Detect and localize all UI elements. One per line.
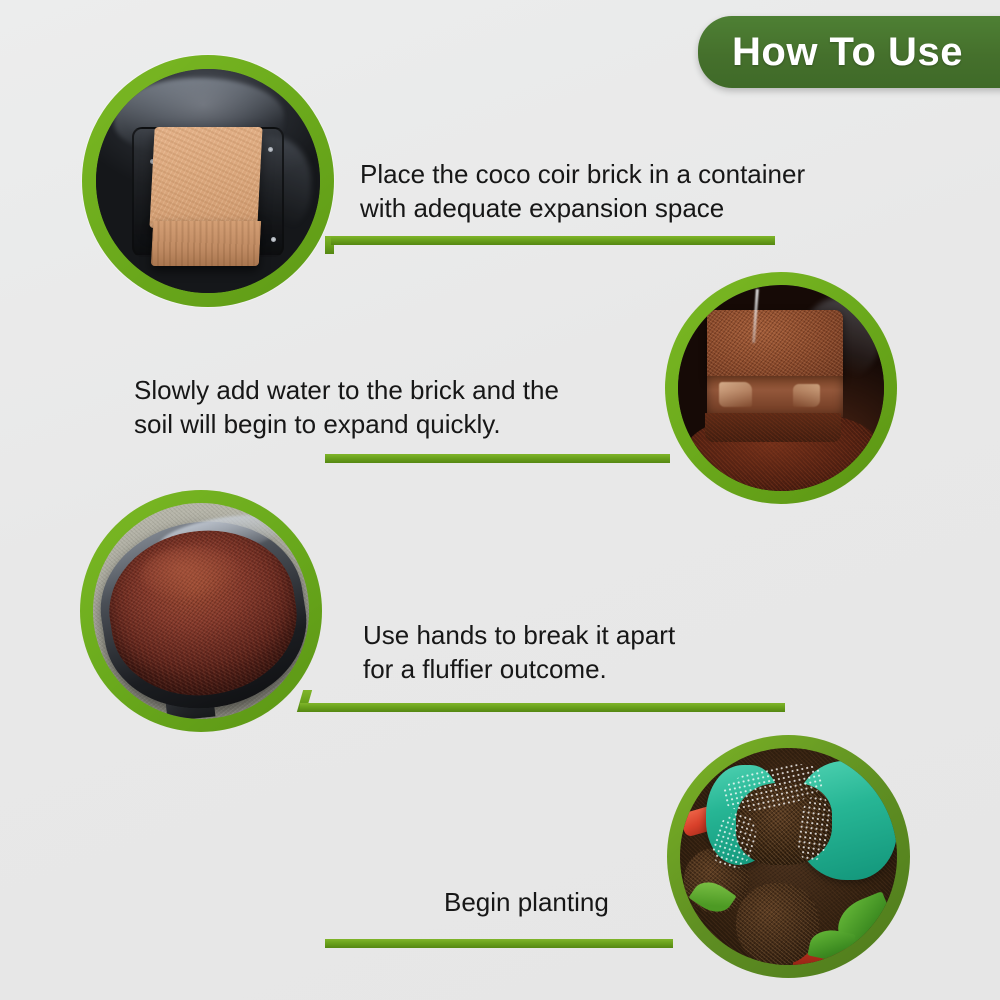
- tray-screw-icon: [271, 237, 276, 242]
- step-3-connector-bar: [300, 703, 785, 712]
- header-banner: How To Use: [698, 16, 1000, 88]
- page-title: How To Use: [732, 30, 963, 75]
- step-1-caption: Place the coco coir brick in a container…: [360, 158, 880, 226]
- step-4-photo-gloved-hands-soil: [667, 735, 910, 978]
- infographic-canvas: How To Use Place the coco coir brick in …: [0, 0, 1000, 1000]
- wet-gloss-highlight: [719, 382, 752, 407]
- wet-gloss-highlight: [793, 384, 820, 407]
- step-4-photo-inner: [680, 748, 897, 965]
- step-1-connector-bar: [331, 236, 775, 245]
- expanding-brick-top: [707, 310, 843, 380]
- step-4-caption: Begin planting: [444, 886, 784, 920]
- step-3-photo-inner: [93, 503, 309, 719]
- coir-brick-front-face: [151, 221, 261, 266]
- step-2-photo-inner: [678, 285, 884, 491]
- step-3-caption: Use hands to break it apart for a fluffi…: [363, 619, 783, 687]
- coir-brick-top-face: [149, 127, 262, 228]
- step-2-caption: Slowly add water to the brick and the so…: [134, 374, 654, 442]
- step-2-photo-wet-coir-brick: [665, 272, 897, 504]
- step-4-connector-bar: [325, 939, 673, 948]
- step-1-photo-dry-coir-brick: [82, 55, 334, 307]
- step-2-connector-bar: [325, 454, 670, 463]
- step-1-photo-inner: [96, 69, 320, 293]
- expanding-brick-base: [705, 413, 841, 442]
- step-3-photo-fluffy-coir-soil: [80, 490, 322, 732]
- coir-highlight: [141, 546, 245, 602]
